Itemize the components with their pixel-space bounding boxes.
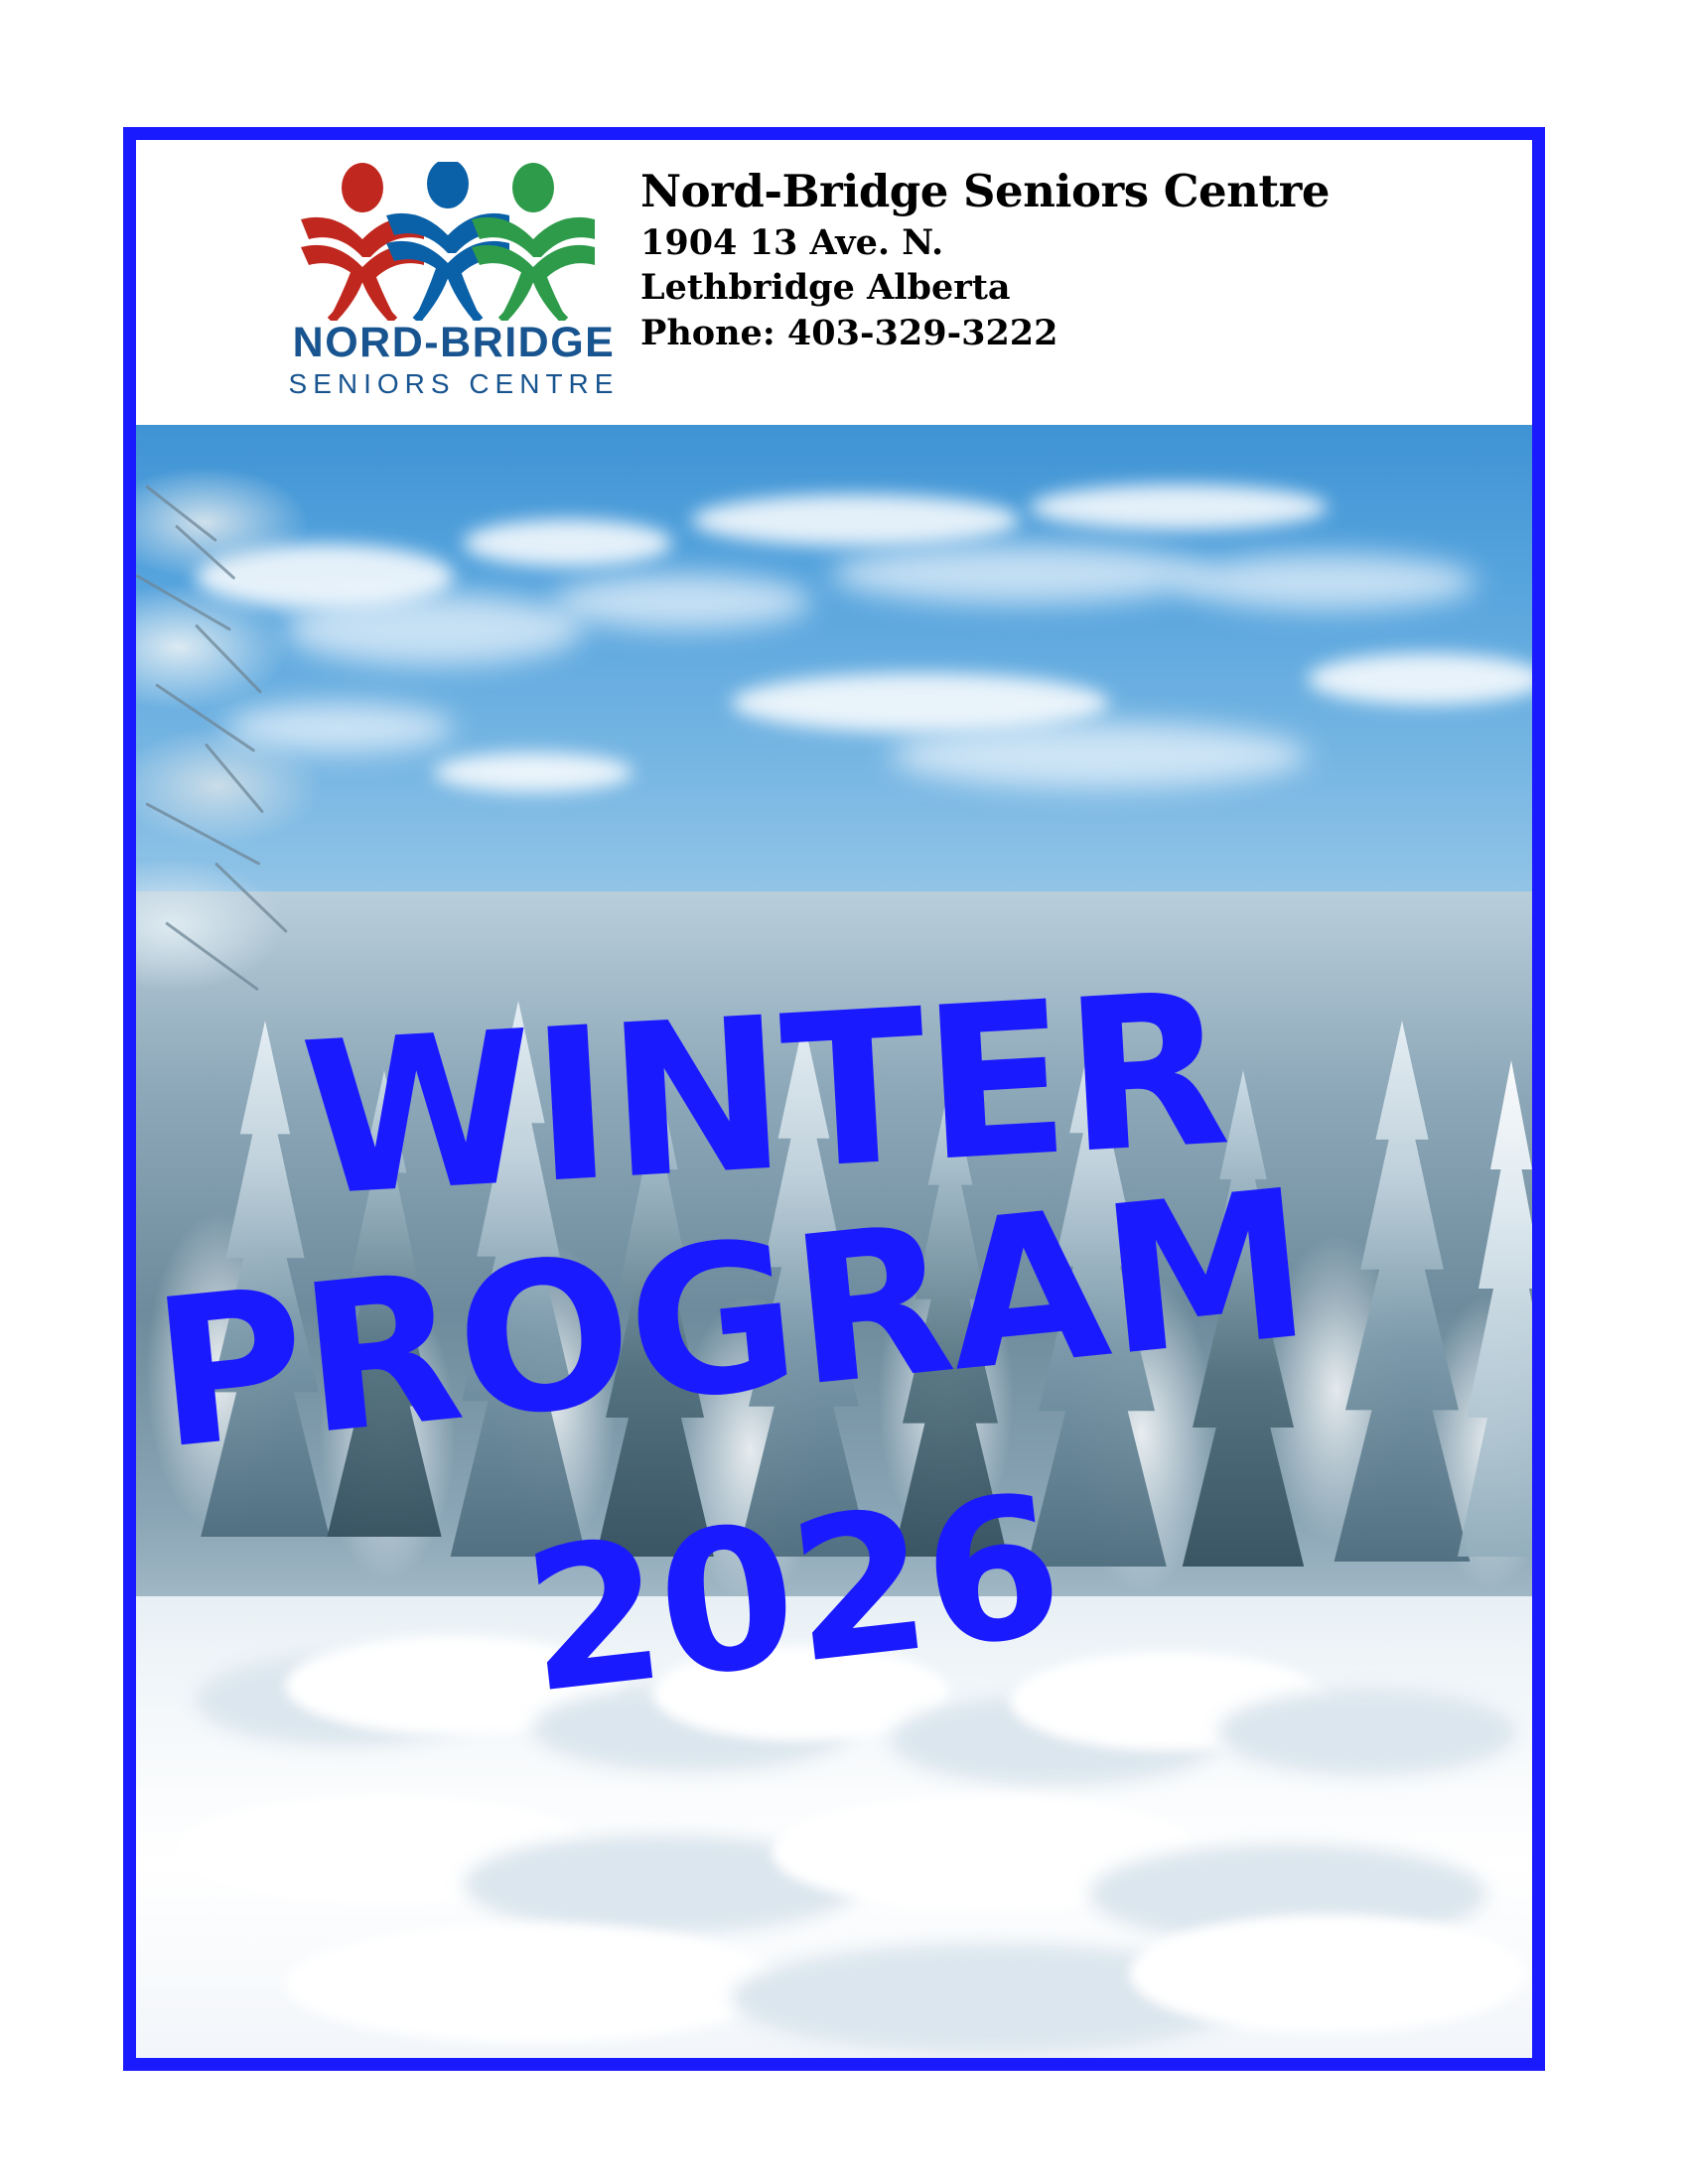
three-people-logo-icon xyxy=(285,162,623,321)
organization-phone: Phone: 403-329-3222 xyxy=(640,311,1494,356)
cover-photo: WINTER PROGRAM 2026 xyxy=(136,425,1532,2058)
organization-logo: NORD-BRIDGE SENIORS CENTRE xyxy=(285,162,623,412)
logo-wordmark: NORD-BRIDGE SENIORS CENTRE xyxy=(285,321,623,401)
logo-wordmark-line2: SENIORS CENTRE xyxy=(285,366,623,401)
cover-page: NORD-BRIDGE SENIORS CENTRE Nord-Bridge S… xyxy=(0,0,1688,2184)
logo-wordmark-line1: NORD-BRIDGE xyxy=(285,321,623,366)
organization-name: Nord-Bridge Seniors Centre xyxy=(640,168,1494,216)
organization-details: Nord-Bridge Seniors Centre 1904 13 Ave. … xyxy=(640,168,1494,355)
header-band: NORD-BRIDGE SENIORS CENTRE Nord-Bridge S… xyxy=(136,140,1532,425)
cover-title-year: 2026 xyxy=(516,1468,1068,1721)
organization-address-line1: 1904 13 Ave. N. xyxy=(640,220,1494,266)
cover-content: NORD-BRIDGE SENIORS CENTRE Nord-Bridge S… xyxy=(136,140,1532,2058)
organization-address-line2: Lethbridge Alberta xyxy=(640,265,1494,311)
